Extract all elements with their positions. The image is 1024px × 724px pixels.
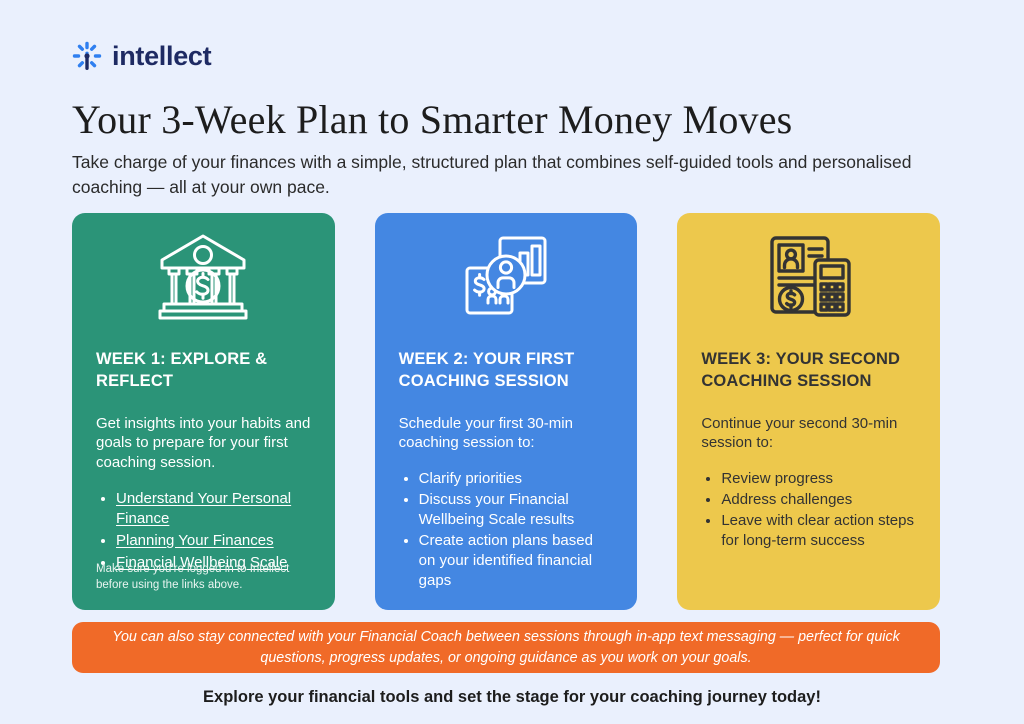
card-heading: WEEK 1: EXPLORE & REFLECT [96, 349, 311, 393]
coaching-chart-person-icon [399, 213, 614, 331]
banner-text: You can also stay connected with your Fi… [90, 627, 922, 668]
card-week-3: WEEK 3: YOUR SECOND COACHING SESSION Con… [677, 213, 940, 610]
card-bullet-list: Clarify priorities Discuss your Financia… [399, 469, 614, 592]
card-body: Schedule your first 30-min coaching sess… [399, 414, 614, 454]
card-body: Continue your second 30-min session to: [701, 414, 916, 454]
starburst-icon [72, 41, 102, 71]
week-cards: WEEK 1: EXPLORE & REFLECT Get insights i… [72, 213, 940, 610]
list-item: Clarify priorities [419, 469, 614, 489]
list-item: Leave with clear action steps for long-t… [721, 511, 916, 551]
list-item[interactable]: Planning Your Finances [116, 531, 311, 551]
list-item[interactable]: Understand Your Personal Finance [116, 489, 311, 529]
id-card-calculator-icon [701, 213, 916, 331]
list-item: Address challenges [721, 490, 916, 510]
list-item: Create action plans based on your identi… [419, 531, 614, 591]
link-understand-your-personal-finance[interactable]: Understand Your Personal Finance [116, 490, 291, 527]
card-body: Get insights into your habits and goals … [96, 414, 311, 474]
card-bullet-list: Review progress Address challenges Leave… [701, 469, 916, 552]
brand-wordmark: intellect [112, 43, 211, 70]
infographic-page: intellect Your 3-Week Plan to Smarter Mo… [0, 0, 1024, 724]
card-week-2: WEEK 2: YOUR FIRST COACHING SESSION Sche… [375, 213, 638, 610]
coach-messaging-banner: You can also stay connected with your Fi… [72, 622, 940, 673]
card-heading: WEEK 2: YOUR FIRST COACHING SESSION [399, 349, 614, 393]
card-week-1: WEEK 1: EXPLORE & REFLECT Get insights i… [72, 213, 335, 610]
page-subtitle: Take charge of your finances with a simp… [72, 150, 912, 200]
page-title: Your 3-Week Plan to Smarter Money Moves [72, 96, 792, 143]
card-heading: WEEK 3: YOUR SECOND COACHING SESSION [701, 349, 916, 393]
card-note: Make sure you're logged in to Intellect … [96, 562, 321, 594]
brand-logo: intellect [72, 41, 211, 71]
list-item: Discuss your Financial Wellbeing Scale r… [419, 490, 614, 530]
footer-cta: Explore your financial tools and set the… [0, 688, 1024, 707]
bank-dollar-icon [96, 213, 311, 331]
list-item: Review progress [721, 469, 916, 489]
link-planning-your-finances[interactable]: Planning Your Finances [116, 532, 274, 549]
